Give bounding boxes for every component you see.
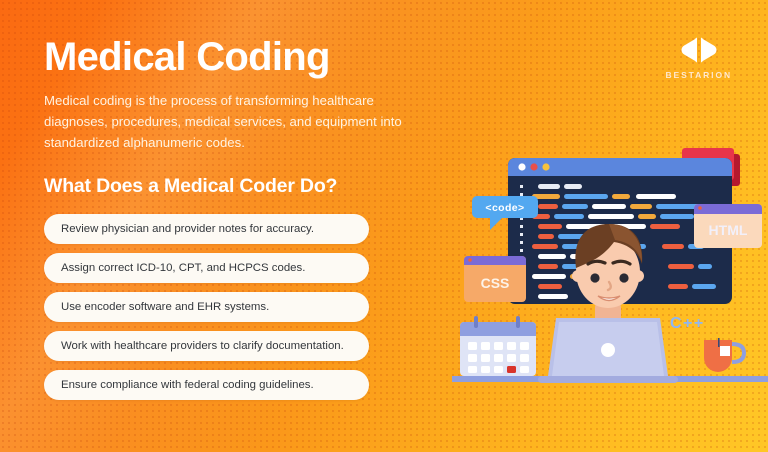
laptop-logo: [601, 343, 615, 357]
cpp-label: C++: [670, 315, 705, 332]
poster-canvas: BESTARION Medical Coding Medical coding …: [0, 0, 768, 452]
developer-illustration: </>: [452, 140, 768, 420]
window-dot-white: [518, 163, 525, 170]
calendar-today-marker: [507, 366, 516, 373]
tea-tag: [720, 346, 730, 356]
html-card: HTML: [694, 204, 762, 248]
window-dot-red: [530, 163, 537, 170]
code-bubble-label: <code>: [485, 202, 524, 214]
window-dot-yellow: [542, 163, 549, 170]
task-list: Review physician and provider notes for …: [44, 214, 424, 400]
list-item: Use encoder software and EHR systems.: [44, 292, 369, 322]
coffee-mug: [704, 338, 744, 372]
page-title: Medical Coding: [44, 36, 424, 78]
laptop: [538, 318, 678, 383]
content-column: Medical Coding Medical coding is the pro…: [44, 36, 424, 400]
list-item: Ensure compliance with federal coding gu…: [44, 370, 369, 400]
list-item: Assign correct ICD-10, CPT, and HCPCS co…: [44, 253, 369, 283]
calendar-icon: [460, 316, 536, 376]
html-card-label: HTML: [709, 222, 748, 238]
brand-name: BESTARION: [665, 70, 732, 80]
page-subtitle: Medical coding is the process of transfo…: [44, 91, 414, 153]
bestarion-chevrons-icon: [677, 36, 721, 64]
brand-logo: BESTARION: [665, 36, 732, 80]
css-card-label: CSS: [481, 275, 510, 291]
list-item: Review physician and provider notes for …: [44, 214, 369, 244]
list-item: Work with healthcare providers to clarif…: [44, 331, 369, 361]
css-card: CSS: [464, 256, 526, 302]
section-subheading: What Does a Medical Coder Do?: [44, 175, 424, 198]
